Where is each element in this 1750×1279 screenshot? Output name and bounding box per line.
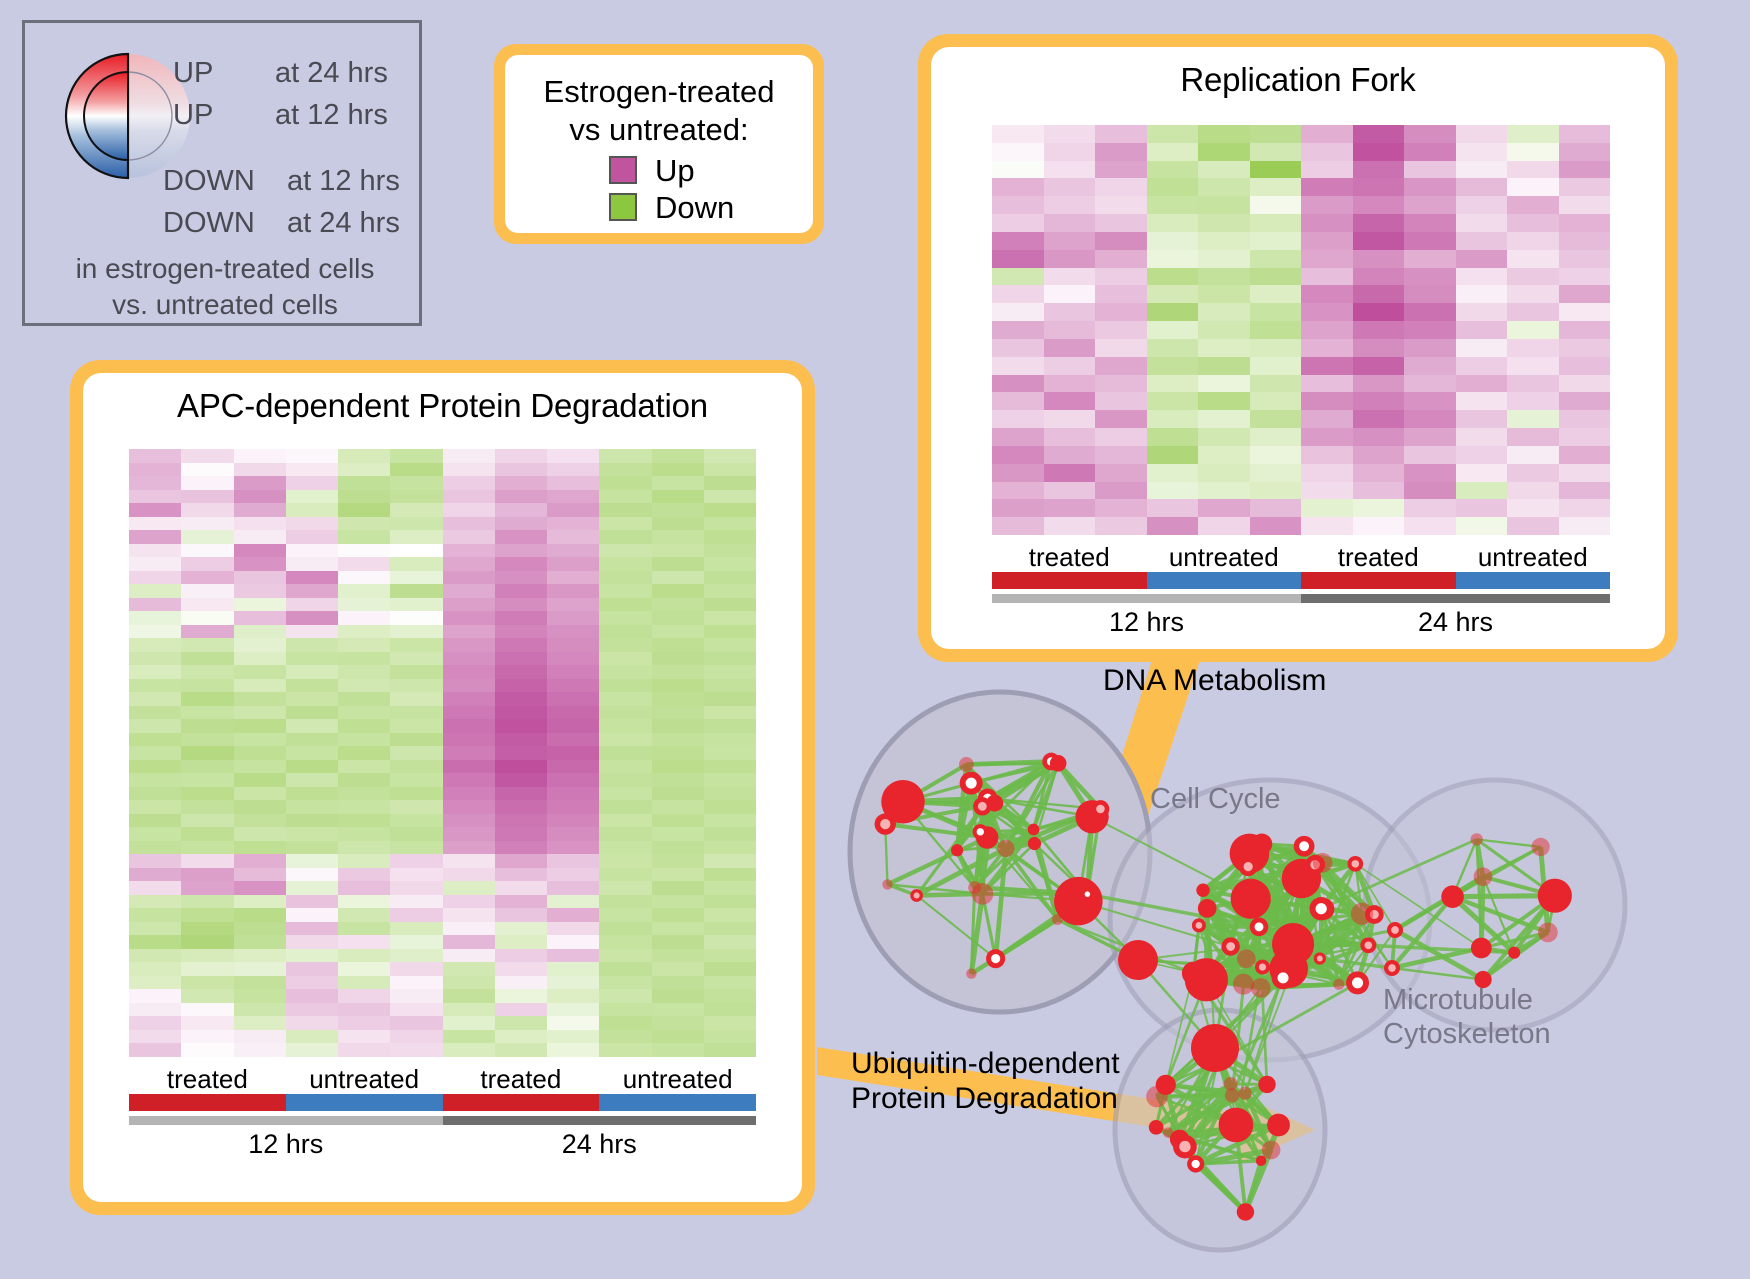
network-node[interactable] [1250, 918, 1269, 937]
heatmap-cell [390, 962, 442, 976]
network-node[interactable] [1538, 922, 1558, 942]
heatmap-cell [992, 268, 1044, 286]
heatmap-cell [181, 449, 233, 463]
heatmap-cell [1404, 285, 1456, 303]
network-node[interactable] [1221, 937, 1239, 955]
heatmap-cell [1301, 268, 1353, 286]
node-outer-circle [1251, 978, 1271, 998]
heatmap-cell [1404, 464, 1456, 482]
heatmap-cell [1250, 285, 1302, 303]
heatmap-cell [1404, 214, 1456, 232]
heatmap-cell [599, 557, 651, 571]
heatmap-cell [1559, 196, 1611, 214]
heatmap-cell [1404, 339, 1456, 357]
heatmap-cell [181, 1043, 233, 1057]
network-node[interactable] [1346, 971, 1369, 994]
network-node[interactable] [986, 949, 1005, 968]
heatmap-cell [1353, 125, 1405, 143]
network-node[interactable] [1251, 978, 1271, 998]
network-node[interactable] [1309, 897, 1332, 920]
heatmap-cell [1044, 285, 1096, 303]
condition-bar-segment [1147, 572, 1302, 589]
heatmap-cell [286, 611, 338, 625]
heatmap-cell [652, 692, 704, 706]
network-node[interactable] [1118, 940, 1158, 980]
heatmap-cell [1456, 446, 1508, 464]
network-node[interactable] [1387, 922, 1403, 938]
heatmap-cell [547, 625, 599, 639]
heatmap-cell [547, 490, 599, 504]
condition-bar-segment [443, 1094, 600, 1111]
heatmap-cell [1559, 250, 1611, 268]
network-node[interactable] [1050, 755, 1067, 772]
heatmap-cell [1353, 392, 1405, 410]
network-node[interactable] [1052, 914, 1063, 925]
heatmap-cell [390, 895, 442, 909]
network-node[interactable] [875, 813, 896, 834]
network-node[interactable] [1028, 824, 1040, 836]
heatmap-cell [599, 652, 651, 666]
heatmap-cell [1559, 428, 1611, 446]
network-node[interactable] [997, 840, 1014, 857]
heatmap-cell [547, 652, 599, 666]
node-inner-circle [1244, 862, 1253, 871]
heatmap-cell [286, 922, 338, 936]
network-node[interactable] [1191, 1024, 1239, 1072]
heatmap-cell [1456, 285, 1508, 303]
network-node[interactable] [1313, 853, 1333, 873]
network-node[interactable] [1173, 1135, 1197, 1159]
heatmap-cell [547, 530, 599, 544]
node-outer-circle [1441, 885, 1464, 908]
network-node[interactable] [1182, 962, 1205, 985]
heatmap-cell [390, 827, 442, 841]
heatmap-cell [234, 841, 286, 855]
heatmap-cell [390, 773, 442, 787]
heatmap-cell [652, 1016, 704, 1030]
heatmap-cell [1198, 250, 1250, 268]
heatmap-cell [547, 733, 599, 747]
node-outer-circle [1233, 974, 1254, 995]
heatmap-cell [286, 679, 338, 693]
heatmap-cell [652, 989, 704, 1003]
heatmap-cell [129, 449, 181, 463]
heatmap-cell [1147, 357, 1199, 375]
network-node[interactable] [1239, 1087, 1252, 1100]
heatmap-cell [652, 719, 704, 733]
heatmap-cell [599, 962, 651, 976]
network-node[interactable] [1471, 833, 1483, 845]
network-node[interactable] [1198, 899, 1217, 918]
heatmap-cell [1507, 392, 1559, 410]
heatmap-cell [1198, 214, 1250, 232]
heatmap-cell [1095, 517, 1147, 535]
heatmap-cell [547, 611, 599, 625]
heatmap-cell [547, 746, 599, 760]
network-node[interactable] [1187, 1155, 1204, 1172]
heatmap-cell [547, 989, 599, 1003]
heatmap-cell [704, 652, 756, 666]
heatmap-cell [129, 598, 181, 612]
heatmap-cell [390, 1030, 442, 1044]
heatmap-cell [652, 854, 704, 868]
heatmap-cell [181, 611, 233, 625]
heatmap-cell [234, 544, 286, 558]
network-node[interactable] [1146, 1086, 1168, 1108]
network-node[interactable] [1251, 834, 1272, 855]
heatmap-cell [652, 1043, 704, 1057]
heatmap-cell [181, 935, 233, 949]
network-node[interactable] [1231, 879, 1271, 919]
heatmap-cell [1095, 464, 1147, 482]
heatmap-cell [390, 652, 442, 666]
timepoint-labels: 12 hrs24 hrs [129, 1129, 756, 1160]
network-node[interactable] [1441, 885, 1464, 908]
heatmap-cell [599, 787, 651, 801]
legend-row-3-time: at 24 hrs [287, 209, 400, 238]
legend-row-3-state: DOWN [163, 209, 255, 238]
panel-apc-degradation: APC-dependent Protein Degradation treate… [70, 360, 815, 1215]
heatmap-cell [652, 895, 704, 909]
network-node[interactable] [1471, 938, 1492, 959]
heatmap-cell [1404, 517, 1456, 535]
heatmap-cell [704, 895, 756, 909]
heatmap-cell [390, 989, 442, 1003]
heatmap-cell [1095, 428, 1147, 446]
heatmap-cell [181, 949, 233, 963]
heatmap-cell [547, 638, 599, 652]
heatmap-cell [1198, 499, 1250, 517]
network-node[interactable] [968, 881, 981, 894]
heatmap-cell [390, 692, 442, 706]
heatmap-cell [704, 908, 756, 922]
heatmap-cell [1250, 268, 1302, 286]
heatmap-cell [234, 868, 286, 882]
heatmap-cell [234, 800, 286, 814]
heatmap-cell [286, 962, 338, 976]
heatmap-cell [286, 490, 338, 504]
heatmap-cell [234, 517, 286, 531]
heatmap-cell [599, 463, 651, 477]
heatmap-cell [547, 449, 599, 463]
network-node[interactable] [1237, 949, 1256, 968]
heatmap-cell [390, 503, 442, 517]
heatmap-cell [704, 692, 756, 706]
heatmap-cell [1044, 375, 1096, 393]
heatmap-cell [704, 949, 756, 963]
heatmap-cell [1353, 250, 1405, 268]
heatmap-cell [286, 976, 338, 990]
heatmap-cell [443, 733, 495, 747]
network-node[interactable] [1294, 836, 1315, 857]
heatmap-cell [992, 464, 1044, 482]
heatmap-cell [181, 665, 233, 679]
heatmap-cell [1147, 392, 1199, 410]
heatmap-cell [495, 854, 547, 868]
heatmap-cell [181, 746, 233, 760]
heatmap-cell [1095, 161, 1147, 179]
heatmap-cell [547, 773, 599, 787]
network-node[interactable] [960, 772, 983, 795]
node-outer-circle [1471, 938, 1492, 959]
network-node[interactable] [1206, 961, 1216, 971]
heatmap-cell [1559, 339, 1611, 357]
network-node[interactable] [1474, 867, 1493, 886]
heatmap-cell [1404, 268, 1456, 286]
condition-label: untreated [1147, 543, 1302, 572]
legend-footer-line2: vs. untreated cells [25, 287, 425, 323]
condition-bar-segment [1456, 572, 1611, 589]
heatmap-cell [1353, 303, 1405, 321]
network-node[interactable] [973, 797, 991, 815]
condition-labels: treateduntreatedtreateduntreated [129, 1065, 756, 1094]
network-node[interactable] [910, 889, 923, 902]
network-node[interactable] [1028, 837, 1041, 850]
network-node[interactable] [973, 824, 988, 839]
heatmap-cell [1507, 321, 1559, 339]
network-node[interactable] [1360, 937, 1376, 953]
heatmap-cell [652, 787, 704, 801]
heatmap-cell [286, 1003, 338, 1017]
heatmap-cell [1301, 375, 1353, 393]
heatmap-cell [495, 989, 547, 1003]
timepoint-color-bar [129, 1116, 756, 1125]
heatmap-cell [129, 584, 181, 598]
heatmap-cell [1353, 464, 1405, 482]
network-node[interactable] [1149, 1120, 1164, 1135]
heatmap-cell [390, 1043, 442, 1057]
heatmap-cell [547, 841, 599, 855]
heatmap-cell [1044, 161, 1096, 179]
heatmap-cell [129, 692, 181, 706]
heatmap-cell [129, 733, 181, 747]
heatmap-cell [495, 692, 547, 706]
heatmap-cell [286, 854, 338, 868]
heatmap-cell [286, 760, 338, 774]
network-node[interactable] [1256, 1155, 1267, 1166]
heatmap-cell [599, 922, 651, 936]
heatmap-cell [234, 1003, 286, 1017]
heatmap-cell [547, 584, 599, 598]
heatmap-cell [390, 638, 442, 652]
network-node[interactable] [1192, 918, 1206, 932]
heatmap-cell [286, 746, 338, 760]
network-node[interactable] [1237, 1203, 1254, 1220]
network-node[interactable] [1239, 857, 1258, 876]
heatmap-cell [704, 1016, 756, 1030]
node-inner-circle [1299, 841, 1309, 851]
heatmap-cell [495, 746, 547, 760]
heatmap-cell [547, 1016, 599, 1030]
network-node[interactable] [1538, 879, 1572, 913]
heatmap-cell [992, 161, 1044, 179]
heatmap-cell [599, 1043, 651, 1057]
node-inner-circle [1096, 805, 1105, 814]
heatmap-cell [1095, 339, 1147, 357]
heatmap-cell [652, 800, 704, 814]
network-node[interactable] [1531, 838, 1549, 856]
network-node[interactable] [1384, 960, 1400, 976]
heatmap-cell [652, 760, 704, 774]
heatmap-cell [129, 1030, 181, 1044]
network-node[interactable] [1255, 960, 1270, 975]
legend-row-1-state: UP [173, 101, 213, 130]
heatmap-cell [1250, 464, 1302, 482]
network-node[interactable] [1092, 800, 1110, 818]
network-node[interactable] [1333, 979, 1344, 990]
heatmap-cell [547, 571, 599, 585]
heatmap-cell [547, 895, 599, 909]
heatmap-cell [390, 598, 442, 612]
heatmap-cell [547, 800, 599, 814]
heatmap-cell [704, 544, 756, 558]
network-node[interactable] [1258, 1076, 1275, 1093]
heatmap-cell [1507, 482, 1559, 500]
network-node[interactable] [1262, 1141, 1281, 1160]
network-node[interactable] [1508, 947, 1520, 959]
heatmap-cell [495, 449, 547, 463]
network-node[interactable] [1351, 903, 1373, 925]
node-outer-circle [1237, 949, 1256, 968]
network-node[interactable] [1347, 856, 1363, 872]
heatmap-cell [1095, 285, 1147, 303]
network-node[interactable] [1233, 974, 1254, 995]
heatmap-cell [992, 482, 1044, 500]
heatmap-cell [652, 922, 704, 936]
network-node[interactable] [1082, 888, 1093, 899]
node-outer-circle [1474, 867, 1493, 886]
heatmap-cell [1095, 143, 1147, 161]
heatmap-cell [1353, 143, 1405, 161]
heatmap-cell [547, 760, 599, 774]
heatmap-cell [652, 625, 704, 639]
network-node[interactable] [1196, 884, 1209, 897]
network-node[interactable] [1291, 935, 1312, 956]
network-node[interactable] [1219, 1108, 1254, 1143]
network-node[interactable] [951, 844, 963, 856]
heatmap-cell [1456, 392, 1508, 410]
heatmap-cell [1404, 428, 1456, 446]
heatmap-cell [286, 881, 338, 895]
heatmap-cell [599, 665, 651, 679]
heatmap-cell [181, 530, 233, 544]
heatmap-cell [390, 490, 442, 504]
heatmap-cell [1147, 482, 1199, 500]
heatmap-cell [704, 962, 756, 976]
heatmap-cell [599, 517, 651, 531]
heatmap-cell [652, 584, 704, 598]
heatmap-cell [129, 881, 181, 895]
heatmap-cell [495, 935, 547, 949]
heatmap-cell [652, 679, 704, 693]
heatmap-cell [704, 976, 756, 990]
node-outer-circle [1231, 879, 1271, 919]
heatmap-cell [338, 1030, 390, 1044]
heatmap-cell [704, 598, 756, 612]
heatmap-cell [704, 706, 756, 720]
condition-bar-segment [992, 572, 1147, 589]
heatmap-cell [338, 584, 390, 598]
heatmap-cell [234, 665, 286, 679]
heatmap-cell [1404, 357, 1456, 375]
heatmap-cell [1507, 375, 1559, 393]
heatmap-cell [1147, 446, 1199, 464]
network-node[interactable] [882, 879, 892, 889]
heatmap-cell [443, 989, 495, 1003]
node-outer-circle [1198, 899, 1217, 918]
heatmap-cell [547, 908, 599, 922]
heatmap-cell [704, 935, 756, 949]
node-outer-circle [1118, 940, 1158, 980]
heatmap-cell [652, 706, 704, 720]
heatmap-cell [443, 611, 495, 625]
heatmap-cell [547, 692, 599, 706]
heatmap-cell [547, 463, 599, 477]
heatmap-cell [1044, 303, 1096, 321]
heatmap-cell [652, 935, 704, 949]
heatmap-cell [129, 571, 181, 585]
condition-label: treated [129, 1065, 286, 1094]
heatmap-cell [129, 652, 181, 666]
heatmap-cell [129, 854, 181, 868]
network-node[interactable] [1272, 966, 1295, 989]
condition-color-bar [992, 572, 1610, 589]
heatmap-cell [599, 733, 651, 747]
network-node[interactable] [1163, 1127, 1173, 1137]
heatmap-cell [1044, 339, 1096, 357]
heatmap-cell [443, 652, 495, 666]
heatmap-cell [1507, 125, 1559, 143]
heatmap-cell [181, 881, 233, 895]
heatmap-cell [599, 773, 651, 787]
heatmap-cell [234, 530, 286, 544]
heatmap-cell [1559, 482, 1611, 500]
heatmap-cell [390, 611, 442, 625]
network-node[interactable] [1225, 1088, 1239, 1102]
heatmap-cell [129, 908, 181, 922]
heatmap-cell [181, 908, 233, 922]
heatmap-cell [390, 1016, 442, 1030]
heatmap-cell [1404, 375, 1456, 393]
heatmap-cell [992, 339, 1044, 357]
heatmap-cell [234, 949, 286, 963]
heatmap-cell [1404, 446, 1456, 464]
heatmap-cell [390, 544, 442, 558]
heatmap-cell [129, 989, 181, 1003]
heatmap-cell [286, 1043, 338, 1057]
heatmap-cell [652, 530, 704, 544]
heatmap-cell [1301, 446, 1353, 464]
heatmap-cell [234, 503, 286, 517]
heatmap-cell [652, 976, 704, 990]
heatmap-cell [1095, 499, 1147, 517]
network-node[interactable] [966, 968, 976, 978]
heatmap-cell [181, 1030, 233, 1044]
heatmap-cell [1404, 125, 1456, 143]
network-node[interactable] [959, 757, 974, 772]
up-label: Up [655, 155, 695, 186]
heatmap-cell [1044, 232, 1096, 250]
heatmap-cell [1456, 339, 1508, 357]
network-node[interactable] [1314, 952, 1326, 964]
heatmap-cell [1353, 446, 1405, 464]
heatmap-cell [234, 989, 286, 1003]
network-node[interactable] [1267, 1114, 1290, 1137]
heatmap-cell [443, 908, 495, 922]
heatmap-cell [181, 463, 233, 477]
heatmap-cell [338, 679, 390, 693]
heatmap-cell [390, 935, 442, 949]
